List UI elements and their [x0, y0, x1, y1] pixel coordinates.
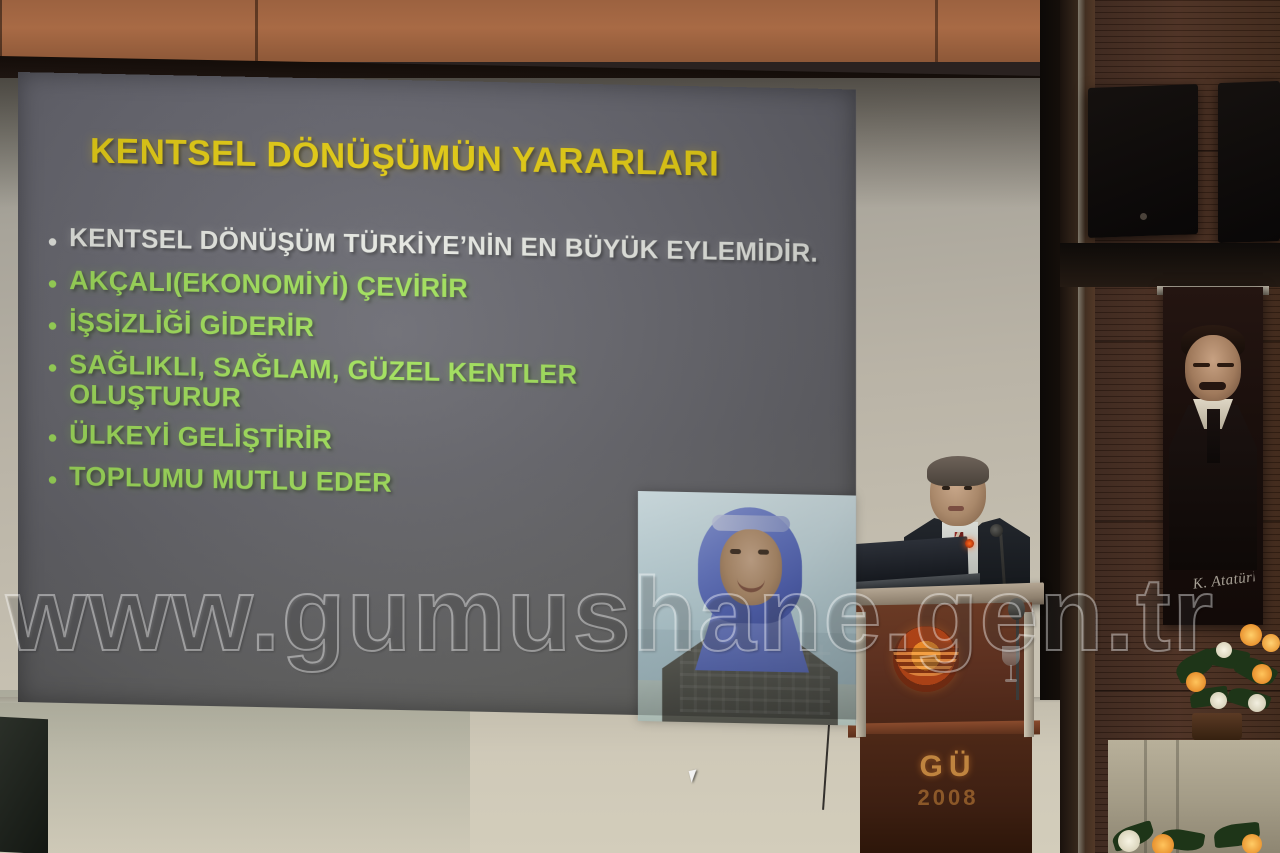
draped-table [1108, 740, 1280, 853]
slide-bullet-text: İŞSİZLİĞİ GİDERİR [69, 307, 314, 342]
presentation-slide: KENTSEL DÖNÜŞÜMÜN YARARLARI • KENTSEL DÖ… [18, 72, 856, 720]
glass-bowl [1002, 646, 1020, 666]
portrait-eyebrow [1193, 363, 1210, 367]
podium-logo-text: GÜ [898, 750, 998, 784]
loudspeaker-right [1218, 81, 1280, 243]
presenter-hair [927, 456, 989, 486]
bullet-glyph-icon: • [48, 313, 57, 339]
slide-bullet-text: AKÇALI(EKONOMİYİ) ÇEVİRİR [69, 265, 468, 304]
bullet-glyph-icon: • [48, 467, 57, 493]
slide-bullet-text: KENTSEL DÖNÜŞÜM TÜRKİYE’NİN EN BÜYÜK EYL… [69, 223, 818, 268]
slide-bullet-item: • İŞSİZLİĞİ GİDERİR [48, 307, 848, 356]
presenter-eye [964, 486, 972, 490]
bullet-glyph-icon: • [48, 355, 57, 381]
speaker-led-icon [1140, 213, 1147, 220]
presenter-mouth [948, 506, 964, 511]
projection-screen: KENTSEL DÖNÜŞÜMÜN YARARLARI • KENTSEL DÖ… [18, 72, 856, 720]
slide-inset-photo [638, 491, 856, 726]
slide-bullet-item: • ÜLKEYİ GELİŞTİRİR [48, 419, 848, 468]
glass-foot [1005, 679, 1017, 682]
drape-fold [1144, 740, 1147, 853]
slide-bullet-item: • AKÇALI(EKONOMİYİ) ÇEVİRİR [48, 265, 848, 314]
drape-fold [1176, 740, 1179, 853]
slide-bullet-item: • SAĞLIKLI, SAĞLAM, GÜZEL KENTLER OLUŞTU… [48, 349, 848, 426]
bullet-glyph-icon: • [48, 425, 57, 451]
bullet-glyph-icon: • [48, 271, 57, 297]
bullet-glyph-icon: • [48, 229, 57, 255]
column-highlight-edge [1078, 0, 1085, 853]
slide-bullet-text: ÜLKEYİ GELİŞTİRİR [69, 420, 332, 456]
podium-leg [1024, 612, 1034, 737]
water-glass [1002, 646, 1020, 686]
ataturk-signature: K. Atatürk [1192, 569, 1256, 598]
floor-microphone-head [1008, 598, 1025, 620]
microphone-capsule [990, 524, 1003, 537]
ataturk-banner: K. Atatürk [1163, 287, 1263, 625]
portrait-moustache [1199, 382, 1226, 390]
podium-logo-subtext: 2008 [890, 785, 1006, 811]
microphone-led-icon [965, 539, 974, 548]
flower-pot [1192, 713, 1242, 741]
slide-bullet-item: • KENTSEL DÖNÜŞÜM TÜRKİYE’NİN EN BÜYÜK E… [48, 223, 848, 272]
slide-title: KENTSEL DÖNÜŞÜMÜN YARARLARI [90, 132, 810, 187]
slide-bullet-text: SAĞLIKLI, SAĞLAM, GÜZEL KENTLER OLUŞTURU… [69, 349, 669, 422]
speaker-shelf [1060, 243, 1280, 287]
podium-leg [856, 612, 866, 737]
portrait-tie [1207, 409, 1220, 463]
foreground-dark-object [0, 717, 48, 853]
slide-bullet-list: • KENTSEL DÖNÜŞÜM TÜRKİYE’NİN EN BÜYÜK E… [48, 223, 848, 520]
glass-stem [1010, 665, 1012, 680]
portrait-head [1185, 335, 1241, 401]
wall-floor-tint [0, 690, 470, 853]
conference-hall-photo: K. Atatürk [0, 0, 1280, 853]
woman-eye [758, 550, 769, 555]
portrait-eyebrow [1217, 363, 1234, 367]
woman-face [720, 529, 782, 606]
presenter-eye [942, 486, 950, 490]
slide-bullet-text: TOPLUMU MUTLU EDER [69, 462, 392, 499]
brick-seam [1095, 690, 1280, 692]
woman-eye [730, 549, 741, 554]
